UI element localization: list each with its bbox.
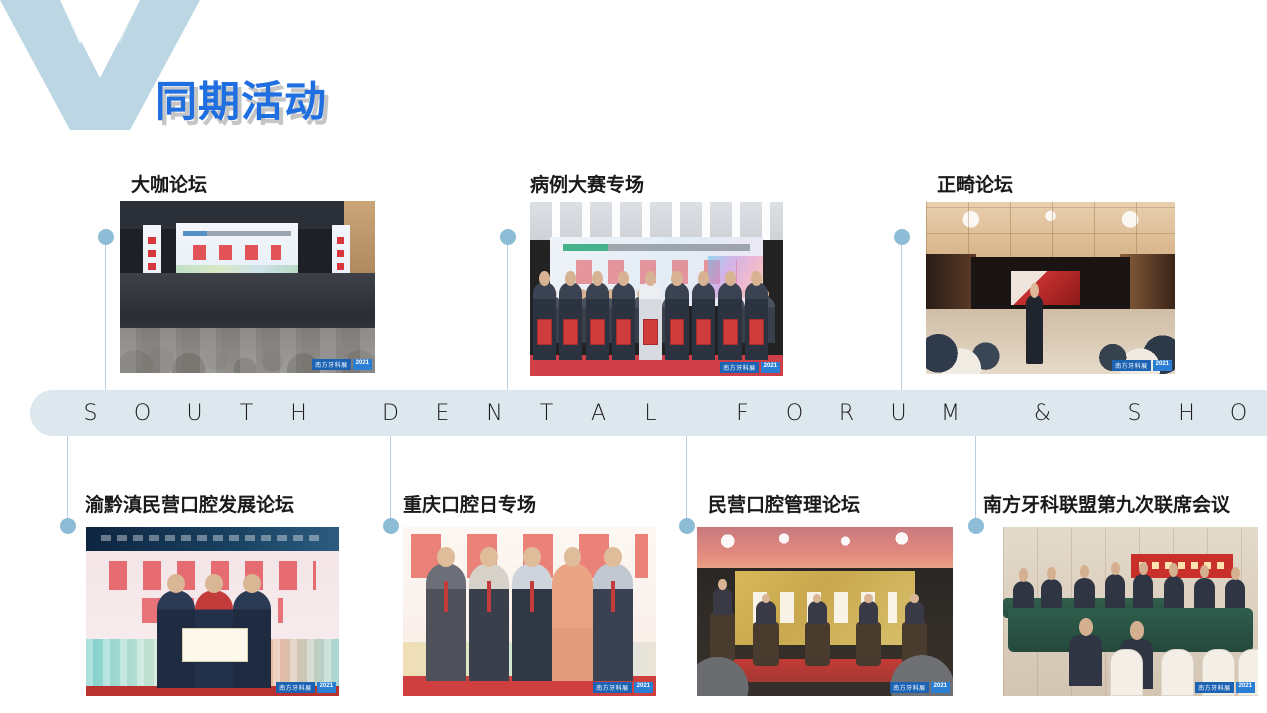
event-photo-chongqing[interactable]: 南方牙科展 2021 bbox=[403, 527, 656, 696]
band-letter: H bbox=[1161, 401, 1213, 426]
band-letter: U bbox=[873, 401, 925, 426]
band-letter: M bbox=[925, 401, 977, 426]
event-label-binglidasai: 病例大赛专场 bbox=[530, 170, 644, 197]
band-letter-space bbox=[1069, 401, 1109, 426]
watermark-year: 2021 bbox=[1153, 360, 1172, 371]
photo-scene bbox=[926, 202, 1175, 374]
connector-dot-top-3 bbox=[894, 229, 910, 245]
band-letter: O bbox=[117, 401, 169, 426]
photo-watermark: 南方牙科展 2021 bbox=[312, 359, 372, 370]
watermark-year: 2021 bbox=[353, 359, 372, 370]
band-letter: N bbox=[469, 401, 521, 426]
event-photo-dakalun-tan[interactable]: 南方牙科展 2021 bbox=[120, 201, 375, 373]
connector-line-bottom-1 bbox=[67, 434, 68, 526]
band-letter: F bbox=[717, 401, 769, 426]
event-photo-guanli[interactable]: 南方牙科展 2021 bbox=[697, 527, 953, 696]
band-letter-space bbox=[977, 401, 1017, 426]
band-letter: A bbox=[573, 401, 625, 426]
watermark-brand: 南方牙科展 bbox=[720, 362, 759, 373]
event-label-dakalun-tan: 大咖论坛 bbox=[131, 170, 207, 197]
watermark-year: 2021 bbox=[634, 682, 653, 693]
photo-watermark: 南方牙科展 2021 bbox=[593, 682, 653, 693]
watermark-brand: 南方牙科展 bbox=[890, 682, 929, 693]
band-letter: S bbox=[65, 401, 117, 426]
band-letter-space bbox=[325, 401, 365, 426]
connector-line-bottom-4 bbox=[975, 434, 976, 526]
watermark-year: 2021 bbox=[1236, 682, 1255, 693]
event-photo-yuqiandian[interactable]: 南方牙科展 2021 bbox=[86, 527, 339, 696]
connector-line-top-2 bbox=[507, 243, 508, 393]
south-dental-forum-show-band: SOUTH DENTAL FORUM & SHOW bbox=[30, 390, 1267, 436]
watermark-brand: 南方牙科展 bbox=[276, 682, 315, 693]
event-photo-zhengji[interactable]: 南方牙科展 2021 bbox=[926, 202, 1175, 374]
connector-line-top-1 bbox=[105, 243, 106, 393]
connector-dot-top-1 bbox=[98, 229, 114, 245]
band-letter: R bbox=[821, 401, 873, 426]
photo-scene bbox=[697, 527, 953, 696]
connector-dot-bottom-2 bbox=[383, 518, 399, 534]
photo-watermark: 南方牙科展 2021 bbox=[890, 682, 950, 693]
photo-scene bbox=[530, 202, 783, 376]
band-letter: T bbox=[221, 401, 273, 426]
band-letter: O bbox=[769, 401, 821, 426]
photo-watermark: 南方牙科展 2021 bbox=[276, 682, 336, 693]
watermark-brand: 南方牙科展 bbox=[1112, 360, 1151, 371]
band-letter: S bbox=[1109, 401, 1161, 426]
band-letter: D bbox=[365, 401, 417, 426]
event-label-lianmeng: 南方牙科联盟第九次联席会议 bbox=[983, 490, 1230, 517]
band-letter: O bbox=[1213, 401, 1265, 426]
connector-line-top-3 bbox=[901, 243, 902, 393]
watermark-brand: 南方牙科展 bbox=[1195, 682, 1234, 693]
photo-watermark: 南方牙科展 2021 bbox=[1195, 682, 1255, 693]
connector-dot-bottom-4 bbox=[968, 518, 984, 534]
event-photo-lianmeng[interactable]: 南方牙科展 2021 bbox=[1003, 527, 1258, 696]
page-title: 同期活动 bbox=[155, 68, 327, 129]
event-label-guanli: 民营口腔管理论坛 bbox=[708, 490, 860, 517]
band-letter: E bbox=[417, 401, 469, 426]
connector-dot-bottom-3 bbox=[679, 518, 695, 534]
watermark-brand: 南方牙科展 bbox=[593, 682, 632, 693]
photo-watermark: 南方牙科展 2021 bbox=[720, 362, 780, 373]
connector-dot-bottom-1 bbox=[60, 518, 76, 534]
watermark-year: 2021 bbox=[317, 682, 336, 693]
photo-watermark: 南方牙科展 2021 bbox=[1112, 360, 1172, 371]
photo-scene bbox=[403, 527, 656, 696]
event-photo-binglidasai[interactable]: 南方牙科展 2021 bbox=[530, 202, 783, 376]
connector-line-bottom-2 bbox=[390, 434, 391, 526]
band-letter: L bbox=[625, 401, 677, 426]
band-letter: T bbox=[521, 401, 573, 426]
event-label-yuqiandian: 渝黔滇民营口腔发展论坛 bbox=[85, 490, 294, 517]
band-letter: H bbox=[273, 401, 325, 426]
band-letter: & bbox=[1017, 401, 1069, 426]
band-letter: U bbox=[169, 401, 221, 426]
event-label-zhengji: 正畸论坛 bbox=[937, 170, 1013, 197]
band-letter-space bbox=[677, 401, 717, 426]
photo-scene bbox=[120, 201, 375, 373]
event-label-chongqing: 重庆口腔日专场 bbox=[403, 490, 536, 517]
connector-dot-top-2 bbox=[500, 229, 516, 245]
connector-line-bottom-3 bbox=[686, 434, 687, 526]
watermark-brand: 南方牙科展 bbox=[312, 359, 351, 370]
photo-scene bbox=[1003, 527, 1258, 696]
watermark-year: 2021 bbox=[931, 682, 950, 693]
band-title: SOUTH DENTAL FORUM & SHOW bbox=[30, 401, 1267, 426]
photo-scene bbox=[86, 527, 339, 696]
watermark-year: 2021 bbox=[761, 362, 780, 373]
